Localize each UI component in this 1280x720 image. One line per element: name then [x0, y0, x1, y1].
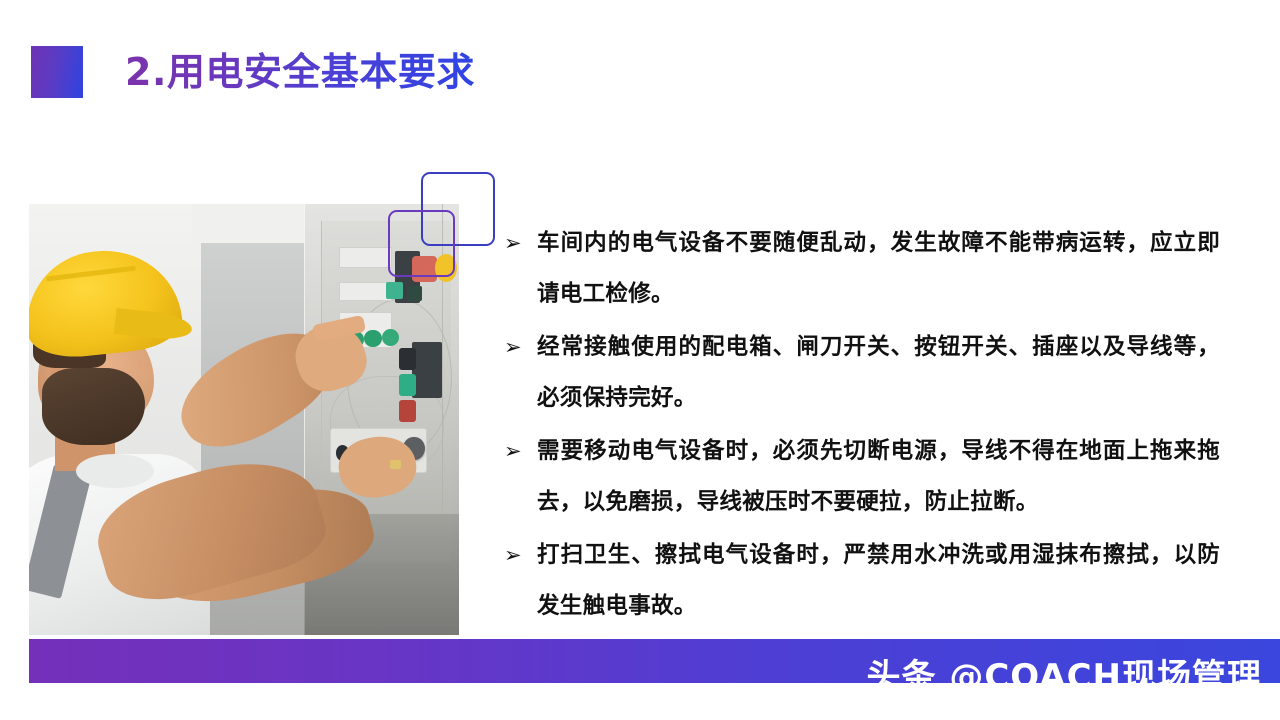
list-item-text: 打扫卫生、擦拭电气设备时，严禁用水冲洗或用湿抹布擦拭，以防发生触电事故。 [537, 542, 1220, 619]
photo-green-switch-1 [386, 282, 403, 299]
watermark-text: 头条 @COACH现场管理 [867, 649, 1263, 698]
list-item: ➢ 车间内的电气设备不要随便乱动，发生故障不能带病运转，应立即请电工检修。 [504, 218, 1220, 320]
photo-dark-switch-1 [407, 286, 422, 301]
safety-requirements-list: ➢ 车间内的电气设备不要随便乱动，发生故障不能带病运转，应立即请电工检修。 ➢ … [504, 218, 1220, 687]
list-item-text: 车间内的电气设备不要随便乱动，发生故障不能带病运转，应立即请电工检修。 [537, 230, 1220, 307]
photo-teal-button [399, 374, 416, 396]
photo-red-button [399, 400, 416, 422]
photo-worker-beard [42, 368, 145, 446]
bullet-arrow-icon: ➢ [504, 426, 522, 477]
list-item: ➢ 经常接触使用的配电箱、闸刀开关、按钮开关、插座以及导线等，必须保持完好。 [504, 322, 1220, 424]
slide-header: 2.用电安全基本要求 [0, 44, 1280, 106]
title-accent-square [31, 46, 83, 98]
list-item-text: 经常接触使用的配电箱、闸刀开关、按钮开关、插座以及导线等，必须保持完好。 [537, 334, 1220, 411]
bullet-arrow-icon: ➢ [504, 530, 522, 581]
photo-green-button-2 [364, 330, 381, 347]
photo-panel-display-2 [412, 342, 442, 398]
photo-panel-label-1 [339, 247, 393, 268]
photo-panel-label-2 [339, 282, 393, 301]
list-item: ➢ 需要移动电气设备时，必须先切断电源，导线不得在地面上拖来拖去，以免磨损，导线… [504, 426, 1220, 528]
photo-green-button-3 [382, 329, 399, 346]
photo-black-button [399, 348, 416, 370]
list-item-text: 需要移动电气设备时，必须先切断电源，导线不得在地面上拖来拖去，以免磨损，导线被压… [537, 438, 1220, 515]
decorative-square-lower [388, 210, 455, 277]
list-item: ➢ 打扫卫生、擦拭电气设备时，严禁用水冲洗或用湿抹布擦拭，以防发生触电事故。 [504, 530, 1220, 632]
bullet-arrow-icon: ➢ [504, 218, 522, 269]
slide-root: 2.用电安全基本要求 [0, 0, 1280, 720]
photo-worker-collar [76, 454, 153, 488]
page-title: 2.用电安全基本要求 [125, 42, 475, 102]
bullet-arrow-icon: ➢ [504, 322, 522, 373]
photo-worker-ring [390, 460, 401, 469]
photo-wall-top [192, 204, 321, 247]
